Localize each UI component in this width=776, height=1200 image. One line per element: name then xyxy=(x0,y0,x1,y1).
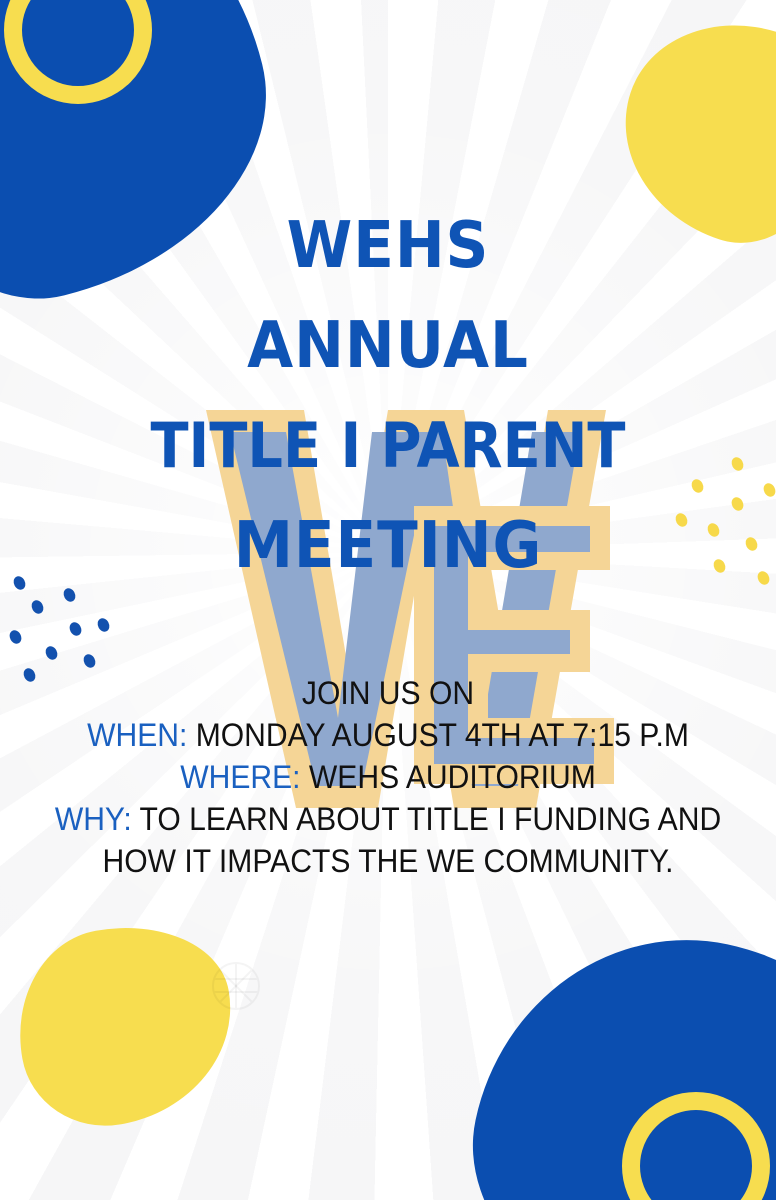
when-value: MONDAY AUGUST 4TH AT 7:15 P.M xyxy=(196,717,689,753)
bottom-left-yellow-blob xyxy=(3,910,249,1139)
where-value: WEHS AUDITORIUM xyxy=(309,759,596,795)
watermark-line xyxy=(214,991,258,993)
headline-line-2: ANNUAL xyxy=(27,296,749,396)
dot xyxy=(67,620,83,638)
dot xyxy=(43,644,59,662)
detail-why: WHY: TO LEARN ABOUT TITLE I FUNDING AND xyxy=(23,798,752,840)
headline-line-1: WEHS xyxy=(27,196,749,296)
where-label: WHERE: xyxy=(180,759,300,795)
detail-why-continued: HOW IT IMPACTS THE WE COMMUNITY. xyxy=(23,840,752,882)
detail-when: WHEN: MONDAY AUGUST 4TH AT 7:15 P.M xyxy=(23,714,752,756)
faint-circle-watermark-icon xyxy=(212,962,260,1010)
detail-intro: JOIN US ON xyxy=(23,672,752,714)
why-value: TO LEARN ABOUT TITLE I FUNDING AND xyxy=(140,801,722,837)
dot xyxy=(95,616,111,634)
flyer-details: JOIN US ON WHEN: MONDAY AUGUST 4TH AT 7:… xyxy=(0,672,776,882)
watermark-line xyxy=(214,978,258,980)
dot xyxy=(7,628,23,646)
when-label: WHEN: xyxy=(87,717,187,753)
why-label: WHY: xyxy=(55,801,132,837)
headline-line-3: TITLE I PARENT xyxy=(39,396,737,496)
detail-where: WHERE: WEHS AUDITORIUM xyxy=(23,756,752,798)
flyer-headline: WEHS ANNUAL TITLE I PARENT MEETING xyxy=(0,196,776,596)
headline-line-4: MEETING xyxy=(27,496,749,596)
dot xyxy=(29,598,45,616)
dot xyxy=(81,652,97,670)
flyer-canvas: WEHS ANNUAL TITLE I PARENT MEETING JOIN … xyxy=(0,0,776,1200)
